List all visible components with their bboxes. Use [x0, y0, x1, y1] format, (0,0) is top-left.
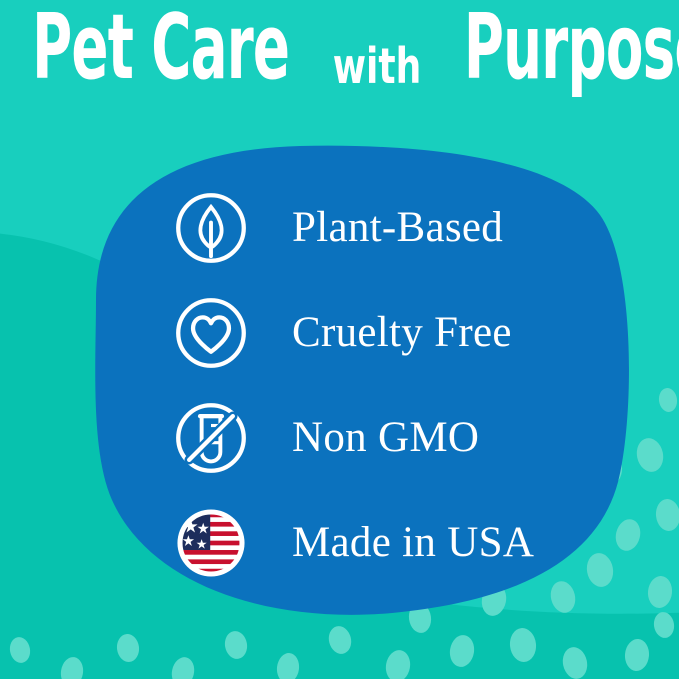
headline-part-1: Pet Care: [32, 2, 289, 92]
feature-row-cruelty-free: Cruelty Free: [0, 280, 679, 385]
leaf-in-circle-icon: [172, 189, 250, 267]
pet-care-with-purpose-poster: Pet Care with Purpose ® Plant-Based Crue…: [0, 0, 679, 679]
usa-flag-badge-icon: [172, 504, 250, 582]
headline: Pet Care with Purpose ®: [0, 16, 679, 92]
feature-row-made-in-usa: Made in USA: [0, 490, 679, 595]
feature-row-non-gmo: Non GMO: [0, 385, 679, 490]
feature-label-plant-based: Plant-Based: [292, 206, 503, 249]
feature-label-made-in-usa: Made in USA: [292, 521, 534, 564]
heart-in-circle-icon: [172, 294, 250, 372]
feature-label-non-gmo: Non GMO: [292, 416, 479, 459]
feature-list: Plant-Based Cruelty Free: [0, 175, 679, 595]
no-test-tube-icon: [172, 399, 250, 477]
headline-part-2: with: [333, 43, 422, 92]
feature-label-cruelty-free: Cruelty Free: [292, 311, 512, 354]
feature-row-plant-based: Plant-Based: [0, 175, 679, 280]
headline-part-3: Purpose: [464, 2, 679, 92]
